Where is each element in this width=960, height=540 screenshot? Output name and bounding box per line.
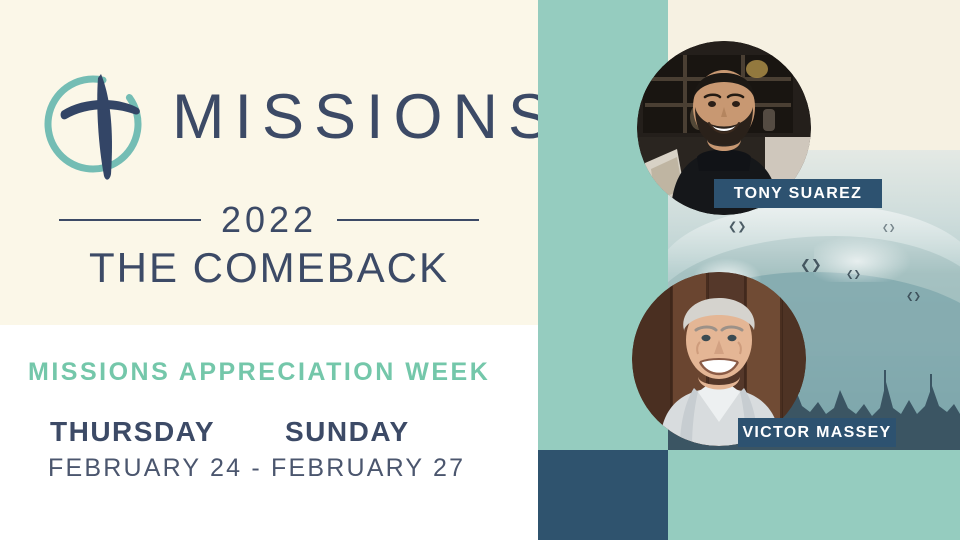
- day-start-label: THURSDAY: [50, 416, 215, 447]
- appreciation-week-tagline: MISSIONS APPRECIATION WEEK: [28, 360, 490, 385]
- day-range: THURSDAYSUNDAY: [50, 418, 480, 446]
- year-divider-row: 2022: [36, 200, 502, 240]
- logo-wordmark: MISSIONS: [172, 86, 560, 149]
- logo-lockup: MISSIONS: [38, 56, 508, 184]
- divider-rule-left: [59, 219, 201, 221]
- missions-cross-circle-logo: [38, 56, 164, 184]
- divider-rule-right: [337, 219, 479, 221]
- bird-icon: ❮❯: [906, 292, 921, 301]
- day-end-label: SUNDAY: [285, 416, 410, 447]
- date-range-label: FEBRUARY 24 - FEBRUARY 27: [48, 456, 465, 481]
- speaker-name-label: TONY SUAREZ: [734, 185, 862, 203]
- year-label: 2022: [221, 202, 317, 238]
- mist-plume-right: [814, 236, 910, 282]
- bird-icon: ❮❯: [728, 222, 746, 233]
- missions-promo-graphic: MISSIONS 2022 THE COMEBACK MISSIONS APPR…: [0, 0, 960, 540]
- bird-icon: ❮❯: [800, 258, 822, 271]
- navy-corner-block: [538, 450, 668, 540]
- bird-icon: ❮❯: [882, 224, 895, 232]
- teal-bottom-right-block: [668, 450, 960, 540]
- speaker-name-badge-tony-suarez: TONY SUAREZ: [714, 179, 882, 208]
- bird-icon: ❮❯: [846, 270, 861, 279]
- theme-title: THE COMEBACK: [0, 245, 538, 291]
- speaker-name-label: VICTOR MASSEY: [742, 424, 891, 442]
- speaker-name-badge-victor-massey: VICTOR MASSEY: [738, 418, 896, 447]
